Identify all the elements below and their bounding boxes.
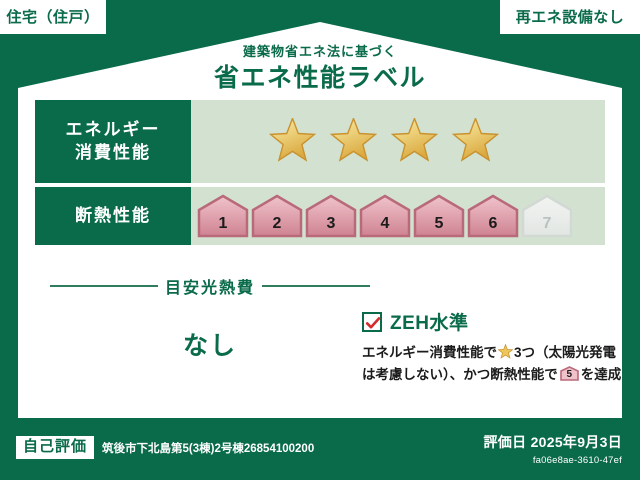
zeh-standard-title: ZEH水準 (390, 308, 469, 335)
header: 建築物省エネ法に基づく 省エネ性能ラベル (18, 44, 622, 94)
star-icon-filled (269, 118, 316, 165)
self-evaluation-badge: 自己評価 (16, 436, 94, 459)
building-type-tag-label: 住宅（住戸） (6, 10, 99, 25)
footer-left: 自己評価 筑後市下北島第5(3棟)2号棟26854100200 (16, 436, 314, 459)
energy-performance-row: エネルギー 消費性能 (35, 100, 605, 183)
insulation-grade-badge-7: 7 (521, 204, 573, 238)
section-divider (52, 420, 317, 422)
star-icon (452, 118, 499, 165)
energy-performance-label-line1: エネルギー (66, 119, 161, 142)
grade-badge-value: 5 (413, 215, 465, 233)
insulation-grade-badge-2: 2 (251, 204, 303, 238)
heading-rule-right (262, 285, 370, 287)
energy-label-card: 住宅（住戸） 再エネ設備なし 建築物省エネ法に基づく 省エネ性能ラベル エネルギ… (0, 0, 640, 480)
zeh-standard-description: エネルギー消費性能で3つ（太陽光発電は考慮しない）、かつ断熱性能で5を達成 (362, 342, 630, 387)
label-panel: 建築物省エネ法に基づく 省エネ性能ラベル エネルギー 消費性能 断熱性能 (18, 22, 622, 418)
grade-badge-value: 1 (197, 215, 249, 233)
insulation-grade-scale: 1234567 (191, 194, 575, 238)
check-icon (365, 315, 381, 331)
zeh-desc-part4: を達成 (581, 367, 622, 382)
grade-badge-value: 6 (467, 215, 519, 233)
evaluation-date: 評価日 2025年9月3日 (483, 432, 622, 452)
zeh-desc-part2: 3つ（太陽光発電 (514, 345, 616, 360)
estimated-utility-cost-value: なし (50, 326, 370, 362)
star-icon-filled (391, 118, 438, 165)
zeh-desc-part1: エネルギー消費性能で (362, 345, 497, 360)
grade-badge-value: 5 (560, 366, 579, 381)
star-icon-filled (330, 118, 377, 165)
zeh-checkbox (362, 312, 382, 332)
grade-badge-value: 7 (521, 215, 573, 233)
renewable-energy-tag-label: 再エネ設備なし (516, 10, 625, 25)
energy-performance-value (191, 100, 605, 183)
insulation-grade-badge-6: 6 (467, 194, 519, 238)
renewable-energy-tag: 再エネ設備なし (500, 0, 640, 34)
energy-performance-label: エネルギー 消費性能 (35, 100, 191, 183)
header-subtitle: 建築物省エネ法に基づく (18, 44, 622, 60)
performance-rows: エネルギー 消費性能 断熱性能 1234567 (35, 100, 605, 245)
star-icon (498, 344, 513, 359)
zeh-standard-block: ZEH水準 エネルギー消費性能で3つ（太陽光発電は考慮しない）、かつ断熱性能で5… (362, 308, 630, 387)
footer: 自己評価 筑後市下北島第5(3棟)2号棟26854100200 評価日 2025… (0, 424, 640, 480)
lower-section: 目安光熱費 なし ZEH水準 エネルギー消費性能で3つ（太陽光発電は考慮しない）… (36, 274, 640, 440)
building-type-tag: 住宅（住戸） (0, 0, 106, 34)
zeh-desc-part3: は考慮しない）、かつ断熱性能で (362, 367, 558, 382)
grade-badge-value: 4 (359, 215, 411, 233)
energy-performance-label-line2: 消費性能 (75, 142, 151, 165)
heading-rule-left (50, 285, 158, 287)
grade-badge-inline: 5 (560, 366, 579, 381)
zeh-standard-heading: ZEH水準 (362, 308, 630, 335)
insulation-performance-label: 断熱性能 (35, 187, 191, 245)
star-rating (191, 118, 499, 165)
insulation-grade-badge-4: 4 (359, 194, 411, 238)
insulation-performance-row: 断熱性能 1234567 (35, 187, 605, 245)
star-icon (269, 118, 316, 165)
estimated-utility-cost-block: 目安光熱費 なし (50, 274, 370, 362)
grade-badge-value: 3 (305, 215, 357, 233)
insulation-grade-badge-3: 3 (305, 204, 357, 238)
star-icon-filled (452, 118, 499, 165)
property-address: 筑後市下北島第5(3棟)2号棟26854100200 (102, 440, 314, 456)
grade-badge-value: 2 (251, 215, 303, 233)
page-title: 省エネ性能ラベル (18, 63, 622, 94)
footer-right: 評価日 2025年9月3日 fa06e8ae-3610-47ef (483, 432, 622, 466)
estimated-utility-cost-title: 目安光熱費 (165, 274, 255, 298)
star-icon (391, 118, 438, 165)
insulation-performance-label-text: 断熱性能 (75, 205, 151, 228)
insulation-grade-badge-5: 5 (413, 194, 465, 238)
insulation-grade-badge-1: 1 (197, 204, 249, 238)
label-id: fa06e8ae-3610-47ef (483, 455, 622, 466)
insulation-performance-value: 1234567 (191, 187, 605, 245)
estimated-utility-cost-heading: 目安光熱費 (50, 274, 370, 298)
star-icon (330, 118, 377, 165)
